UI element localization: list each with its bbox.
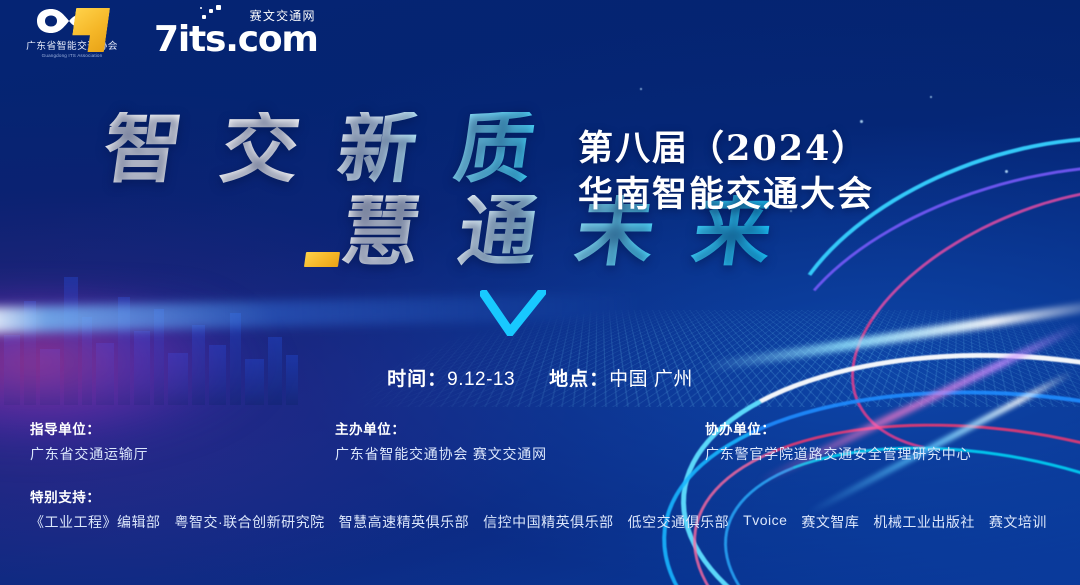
- coorganizer-label: 协办单位：: [705, 418, 1050, 438]
- guidance-value: 广东省交通运输厅: [30, 444, 335, 464]
- organizations-row: 指导单位： 广东省交通运输厅 主办单位： 广东省智能交通协会 赛文交通网 协办单…: [30, 418, 1050, 464]
- cyan-check-accent: [480, 290, 546, 336]
- special-support-item: 机械工业出版社: [873, 512, 975, 532]
- 7its-wordmark: 7its.com: [154, 22, 318, 58]
- special-support-section: 特别支持： 《工业工程》编辑部粤智交·联合创新研究院智慧高速精英俱乐部信控中国精…: [30, 486, 1050, 532]
- special-support-item: 粤智交·联合创新研究院: [175, 512, 325, 532]
- special-support-list: 《工业工程》编辑部粤智交·联合创新研究院智慧高速精英俱乐部信控中国精英俱乐部低空…: [30, 512, 1050, 532]
- place-value: 中国 广州: [609, 369, 693, 390]
- logo-guangdong-its-association[interactable]: 智 广东省智能交通协会 Guangdong ITS Association: [18, 6, 126, 58]
- logo-7its[interactable]: 赛文交通网 7its.com: [154, 7, 318, 58]
- dots-icon: [200, 5, 228, 23]
- guidance-label: 指导单位：: [30, 418, 335, 438]
- special-support-item: 赛文培训: [989, 512, 1047, 532]
- subtitle-block: 第八届（2024） 华南智能交通大会: [578, 126, 874, 218]
- special-support-item: 信控中国精英俱乐部: [483, 512, 614, 532]
- sparkle-icon: [640, 88, 642, 90]
- subtitle-line-1: 第八届（2024）: [578, 126, 874, 172]
- sparkle-icon: [860, 120, 863, 123]
- logo-header: 智 广东省智能交通协会 Guangdong ITS Association 赛文…: [18, 6, 318, 58]
- conference-poster: 智 广东省智能交通协会 Guangdong ITS Association 赛文…: [0, 0, 1080, 585]
- place-label: 地点：: [549, 369, 609, 390]
- subtitle-line-2: 华南智能交通大会: [578, 172, 874, 218]
- special-support-item: 智慧高速精英俱乐部: [339, 512, 470, 532]
- special-support-item: 赛文智库: [801, 512, 859, 532]
- special-support-item: Tvoice: [743, 512, 787, 532]
- light-beam-1: [702, 297, 1080, 373]
- gold-accent-stroke-wei: [304, 252, 340, 267]
- time-label: 时间：: [387, 369, 447, 390]
- sparkle-icon: [930, 96, 932, 98]
- credit-host: 主办单位： 广东省智能交通协会 赛文交通网: [335, 418, 705, 464]
- association-name-en: Guangdong ITS Association: [42, 53, 103, 58]
- credit-coorganizer: 协办单位： 广东警官学院道路交通安全管理研究中心: [705, 418, 1050, 464]
- event-meta: 时间：9.12-13地点：中国 广州: [0, 364, 1080, 391]
- credit-guidance: 指导单位： 广东省交通运输厅: [30, 418, 335, 464]
- data-mesh-grid: [308, 310, 1080, 407]
- special-support-item: 低空交通俱乐部: [628, 512, 730, 532]
- special-support-item: 《工业工程》编辑部: [30, 512, 161, 532]
- coorganizer-value: 广东警官学院道路交通安全管理研究中心: [705, 444, 1050, 464]
- title-line-1: 智 交 新 质: [99, 112, 545, 187]
- host-value: 广东省智能交通协会 赛文交通网: [335, 444, 705, 464]
- sparkle-icon: [1005, 170, 1008, 173]
- special-support-label: 特别支持：: [30, 486, 1050, 506]
- host-label: 主办单位：: [335, 418, 705, 438]
- credits-section: 指导单位： 广东省交通运输厅 主办单位： 广东省智能交通协会 赛文交通网 协办单…: [30, 418, 1050, 532]
- time-value: 9.12-13: [447, 369, 515, 390]
